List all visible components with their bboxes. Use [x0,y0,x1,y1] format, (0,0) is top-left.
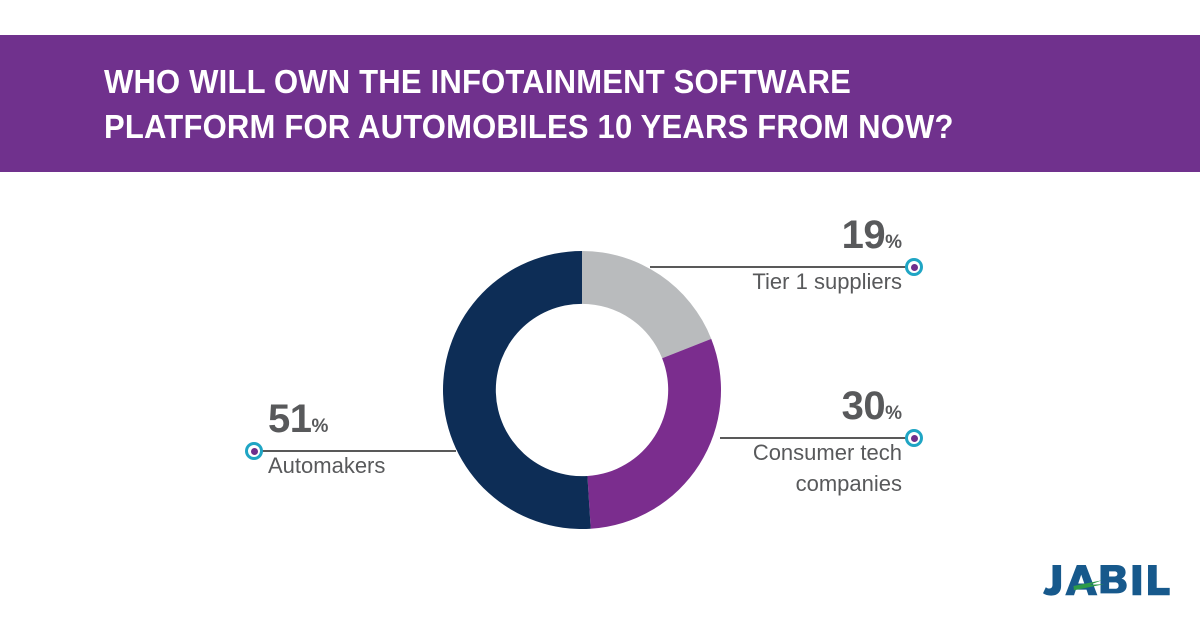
chart-area: 19% Tier 1 suppliers 30% Consumer tech c… [0,172,1200,627]
page-title-line-1: WHO WILL OWN THE INFOTAINMENT SOFTWARE [104,59,1044,104]
page-title: WHO WILL OWN THE INFOTAINMENT SOFTWARE P… [104,59,1044,149]
callout-automakers-value: 51 [268,397,312,441]
callout-tier1-value: 19 [842,213,886,257]
callout-automakers-label: Automakers [268,453,528,479]
callout-tier1-label: Tier 1 suppliers [660,269,902,295]
callout-consumer-tech-label-line-1: Consumer tech [660,440,902,466]
callout-tier1-unit: % [885,232,902,253]
callout-consumer-tech-label-line-2: companies [660,471,902,497]
marker-dot-automakers [245,442,263,460]
callout-automakers-value-wrap: 51% [268,398,528,448]
callout-consumer-tech-value: 30 [842,384,886,428]
jabil-logo-letters [1043,565,1170,596]
callout-tier1: 19% Tier 1 suppliers [660,214,902,295]
infographic-root: WHO WILL OWN THE INFOTAINMENT SOFTWARE P… [0,0,1200,627]
callout-automakers: 51% Automakers [268,398,528,479]
jabil-logo [1032,563,1170,599]
callout-consumer-tech-value-wrap: 30% [660,385,902,435]
marker-dot-consumer-tech [905,429,923,447]
jabil-logo-svg [1032,563,1170,599]
header-band: WHO WILL OWN THE INFOTAINMENT SOFTWARE P… [0,35,1200,172]
callout-tier1-value-wrap: 19% [660,214,902,264]
page-title-line-2: PLATFORM FOR AUTOMOBILES 10 YEARS FROM N… [104,104,1044,149]
callout-automakers-unit: % [312,416,329,437]
callout-consumer-tech-unit: % [885,403,902,424]
marker-dot-tier1 [905,258,923,276]
callout-consumer-tech: 30% Consumer tech companies [660,385,902,497]
